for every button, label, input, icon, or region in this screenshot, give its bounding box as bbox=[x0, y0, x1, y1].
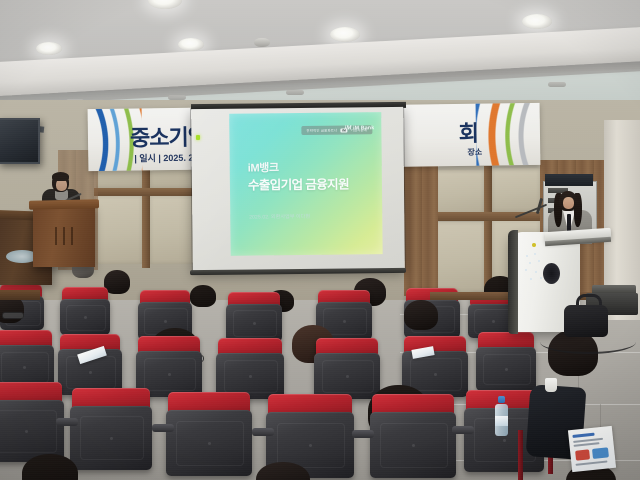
laser-pointer-dot bbox=[196, 135, 200, 140]
auditorium-seat[interactable] bbox=[370, 412, 456, 478]
audience-head bbox=[190, 285, 216, 307]
wall-panel bbox=[436, 222, 484, 292]
lectern-detail bbox=[71, 227, 73, 245]
auditorium-seat[interactable] bbox=[314, 353, 380, 399]
wall-monitor bbox=[0, 118, 40, 164]
seat-armrest bbox=[152, 424, 174, 432]
auditorium-seat[interactable] bbox=[60, 299, 110, 335]
wooden-lectern bbox=[33, 205, 95, 267]
downlight bbox=[36, 42, 62, 55]
auditorium-seat[interactable] bbox=[0, 400, 64, 462]
seat-armrest bbox=[352, 430, 374, 438]
downlight bbox=[178, 38, 204, 51]
projection-screen: 전략적인 금융파트너 iM 기업지원에 iM iM Bank iM뱅크 수출입기… bbox=[191, 107, 405, 272]
paper-cup[interactable] bbox=[545, 378, 557, 392]
av-rack-display bbox=[545, 174, 593, 186]
auditorium-seat[interactable] bbox=[166, 410, 252, 476]
downlight bbox=[330, 27, 360, 42]
slide-title-line-1: iM뱅크 bbox=[248, 159, 279, 175]
wall-trim bbox=[94, 188, 202, 196]
auditorium-seat[interactable] bbox=[70, 406, 152, 470]
seat-armrest bbox=[56, 418, 78, 426]
eyeglasses bbox=[2, 312, 24, 319]
podium-edge bbox=[508, 230, 518, 334]
banner-location-note: 장소 bbox=[467, 147, 482, 158]
seat-leg bbox=[518, 430, 523, 480]
auditorium-seat[interactable] bbox=[476, 347, 536, 391]
presentation-slide: 전략적인 금융파트너 iM 기업지원에 iM iM Bank iM뱅크 수출입기… bbox=[229, 112, 382, 256]
slide-date-author: 2025.02. 외환사업부 이다현 bbox=[249, 213, 310, 221]
auditorium-seat[interactable] bbox=[226, 304, 282, 342]
lectern-detail bbox=[63, 227, 65, 245]
wall-panel bbox=[436, 170, 484, 214]
bottle-label bbox=[495, 416, 508, 426]
im-bank-logo: iM iM Bank bbox=[344, 125, 374, 131]
ceiling-vent bbox=[548, 82, 566, 87]
wall-trim bbox=[484, 166, 492, 294]
seat-armrest bbox=[252, 428, 274, 436]
water-bottle[interactable] bbox=[495, 396, 508, 436]
ceiling-vent bbox=[286, 90, 304, 95]
downlight bbox=[522, 14, 552, 29]
wall-panel bbox=[492, 168, 540, 212]
photo-scene: 중소기업 회 | 일시 | 2025. 2. 5(수) 장소 전략적인 금융파트… bbox=[0, 0, 640, 480]
lectern-top bbox=[29, 199, 99, 209]
banner-stripes-right bbox=[475, 103, 540, 171]
podium-indicator-light bbox=[532, 243, 536, 247]
wood-wall-section bbox=[404, 150, 438, 296]
piano-bench bbox=[0, 290, 40, 300]
audience-head bbox=[404, 300, 438, 330]
speaker-left-hair bbox=[52, 172, 69, 181]
im-bank-logo-text: iM Bank bbox=[353, 125, 374, 131]
slide-title-line-2: 수출입기업 금융지원 bbox=[248, 173, 349, 193]
wall-panel bbox=[150, 196, 194, 264]
wall-panel bbox=[96, 196, 142, 264]
black-briefcase bbox=[564, 305, 608, 337]
bottle-cap bbox=[498, 396, 505, 403]
speaker-right-face bbox=[563, 197, 574, 209]
seat-armrest bbox=[452, 426, 474, 434]
podium-dot-pattern bbox=[524, 253, 544, 283]
im-bank-logo-mark: iM bbox=[343, 125, 351, 131]
podium-speaker-icon bbox=[543, 263, 560, 284]
slide-badge-text-left: 전략적인 금융파트너 bbox=[306, 128, 337, 133]
downlight bbox=[148, 0, 182, 9]
lectern-detail bbox=[55, 227, 57, 245]
banner-title-right: 회 bbox=[458, 116, 478, 148]
program-brochure[interactable] bbox=[568, 426, 616, 472]
smoke-detector-icon bbox=[254, 38, 270, 47]
